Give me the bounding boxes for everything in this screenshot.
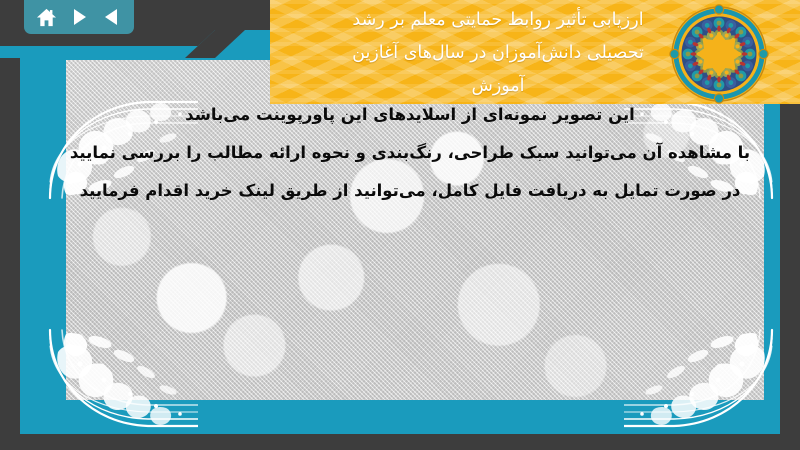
body-line-3: در صورت تمایل به دریافت فایل کامل، می‌تو… bbox=[60, 172, 760, 210]
title-line-2: تحصیلی دانش‌آموزان در سال‌های آغازین bbox=[352, 37, 644, 70]
body-line-2: با مشاهده آن می‌توانید سبک طراحی، رنگ‌بن… bbox=[60, 134, 760, 172]
slide-stage: ارزیابی تأثیر روابط حمایتی معلم بر رشد ت… bbox=[0, 0, 800, 450]
body-line-1: این تصویر نمونه‌ای از اسلایدهای این پاور… bbox=[60, 96, 760, 134]
header-accent-strip bbox=[0, 30, 300, 58]
home-button[interactable] bbox=[33, 5, 59, 29]
navigation-bar bbox=[24, 0, 134, 34]
forward-triangle-icon bbox=[69, 7, 89, 27]
title-line-1: ارزیابی تأثیر روابط حمایتی معلم بر رشد bbox=[352, 4, 643, 37]
home-icon bbox=[36, 7, 57, 28]
back-triangle-icon bbox=[102, 7, 122, 27]
persian-rosette-medallion-icon bbox=[669, 4, 769, 104]
forward-button[interactable] bbox=[66, 5, 92, 29]
back-button[interactable] bbox=[99, 5, 125, 29]
slide-body-text: این تصویر نمونه‌ای از اسلایدهای این پاور… bbox=[60, 96, 760, 210]
